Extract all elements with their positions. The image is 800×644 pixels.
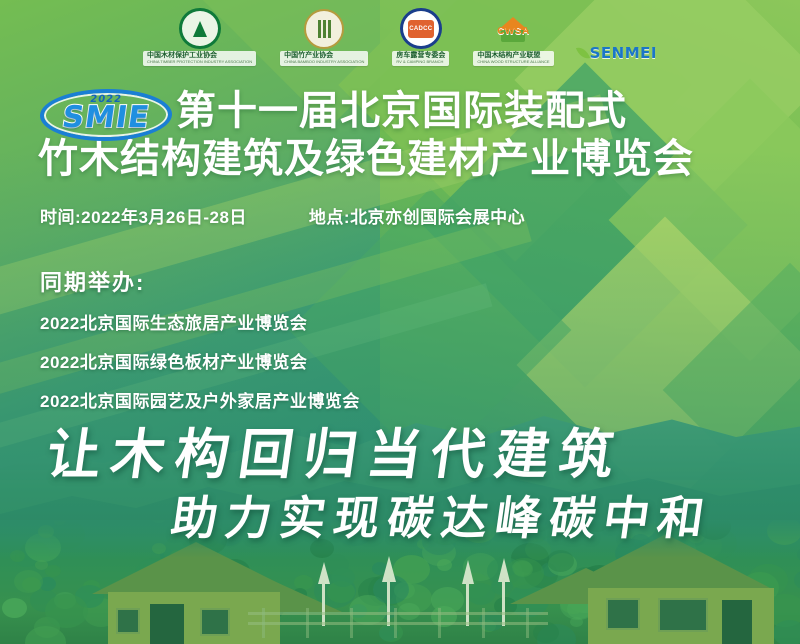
org-logo-china-timber-protection[interactable]: 中国木材保护工业协会 CHINA TIMBER PROTECTION INDUS… — [143, 8, 256, 66]
cadcc-badge-icon: CADCC — [400, 8, 442, 49]
smie-wordmark: SMIE — [60, 103, 151, 133]
concurrent-event-item: 2022北京国际生态旅居产业博览会 — [40, 309, 360, 334]
concurrent-event-item: 2022北京国际绿色板材产业博览会 — [40, 348, 360, 373]
senmei-wordmark: SENMEI — [590, 44, 657, 62]
tree-canopy-blob — [14, 570, 43, 593]
rail-post — [482, 608, 485, 638]
org-logo-china-bamboo[interactable]: 中国竹产业协会 CHINA BAMBOO INDUSTRY ASSOCIATIO… — [280, 8, 368, 66]
org-name-cn: 中国木结构产业联盟 — [477, 52, 540, 59]
rail-post — [526, 608, 529, 638]
org-name-en: CHINA BAMBOO INDUSTRY ASSOCIATION — [284, 60, 364, 65]
org-name-en: CHINA TIMBER PROTECTION INDUSTRY ASSOCIA… — [147, 60, 252, 65]
org-logo-label: 房车露营专委会 RV & CAMPING BRANCH — [392, 51, 449, 66]
rail-post — [350, 608, 353, 638]
tree-shield-icon — [179, 8, 221, 49]
event-meta: 时间:2022年3月26日-28日 地点:北京亦创国际会展中心 — [40, 203, 525, 228]
tree-canopy-blob — [467, 583, 495, 605]
org-logo-cwsa[interactable]: CWSA 中国木结构产业联盟 CHINA WOOD STRUCTURE ALLI… — [473, 8, 553, 66]
cadcc-abbr: CADCC — [408, 20, 434, 38]
slogan-line-1: 让木构回归当代建筑 — [42, 410, 629, 489]
headline-line-1: 第十一届北京国际装配式 — [176, 91, 792, 132]
rail-post — [262, 608, 265, 638]
cwsa-abbr: CWSA — [494, 26, 532, 37]
headline-line-2: 竹木结构建筑及绿色建材产业博览会 — [38, 139, 794, 180]
tree-canopy-blob — [431, 587, 464, 613]
org-name-cn: 中国竹产业协会 — [284, 52, 333, 59]
rail-post — [394, 608, 397, 638]
house-roof-icon: CWSA — [491, 17, 535, 49]
bamboo-seal-icon — [304, 9, 344, 49]
concurrent-events: 同期举办: 2022北京国际生态旅居产业博览会 2022北京国际绿色板材产业博览… — [40, 265, 360, 426]
concurrent-events-title: 同期举办: — [40, 265, 360, 297]
org-logo-label: 中国木材保护工业协会 CHINA TIMBER PROTECTION INDUS… — [143, 51, 256, 66]
tree-canopy-blob — [437, 559, 452, 571]
org-logo-label: 中国竹产业协会 CHINA BAMBOO INDUSTRY ASSOCIATIO… — [280, 51, 368, 66]
expo-poster: 中国木材保护工业协会 CHINA TIMBER PROTECTION INDUS… — [0, 0, 800, 644]
deck-rail — [248, 622, 548, 625]
rail-post — [306, 608, 309, 638]
org-logo-senmei[interactable]: SENMEI — [578, 8, 657, 66]
event-date: 时间:2022年3月26日-28日 — [40, 203, 247, 228]
event-venue: 地点:北京亦创国际会展中心 — [309, 203, 525, 228]
org-name-cn: 房车露营专委会 — [396, 52, 445, 59]
tree-canopy-blob — [2, 598, 27, 618]
org-logo-cadcc[interactable]: CADCC 房车露营专委会 RV & CAMPING BRANCH — [392, 8, 449, 66]
slogan: 让木构回归当代建筑 助力实现碳达峰碳中和 — [0, 410, 800, 550]
slogan-line-2: 助力实现碳达峰碳中和 — [167, 482, 716, 548]
deck-rail — [248, 612, 548, 615]
rail-post — [438, 608, 441, 638]
org-name-en: CHINA WOOD STRUCTURE ALLIANCE — [477, 60, 549, 65]
leaf-icon: SENMEI — [578, 40, 657, 66]
org-name-en: RV & CAMPING BRANCH — [396, 60, 445, 65]
smie-logo[interactable]: 2022 SMIE — [40, 89, 172, 141]
org-logo-label: 中国木结构产业联盟 CHINA WOOD STRUCTURE ALLIANCE — [473, 51, 553, 66]
org-name-cn: 中国木材保护工业协会 — [147, 52, 217, 59]
page-title: 第十一届北京国际装配式 竹木结构建筑及绿色建材产业博览会 — [176, 91, 792, 132]
concurrent-event-item: 2022北京国际园艺及户外家居产业博览会 — [40, 387, 360, 412]
organizer-logo-strip: 中国木材保护工业协会 CHINA TIMBER PROTECTION INDUS… — [0, 0, 800, 74]
